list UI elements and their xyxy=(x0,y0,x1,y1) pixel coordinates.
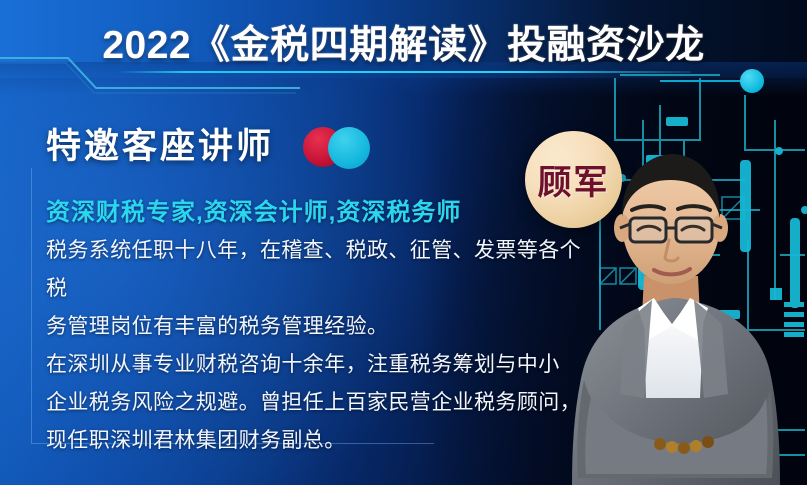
logo-dots xyxy=(303,125,373,169)
bio-line: 税务系统任职十八年，在稽查、税政、征管、发票等各个税 xyxy=(46,232,586,308)
speaker-credentials: 资深财税专家,资深会计师,资深税务师 xyxy=(46,192,461,227)
bio-line: 在深圳从事专业财税咨询十余年，注重税务筹划与中小 xyxy=(46,346,586,384)
bio-line: 现任职深圳君林集团财务副总。 xyxy=(46,422,586,460)
accent-dot-lead-line xyxy=(660,80,744,82)
speaker-biography: 税务系统任职十八年，在稽查、税政、征管、发票等各个税 务管理岗位有丰富的税务管理… xyxy=(46,232,586,460)
accent-dot-icon xyxy=(740,69,764,93)
title-underline xyxy=(116,71,691,73)
circle-cyan-icon xyxy=(328,127,370,169)
speaker-portrait-icon xyxy=(548,148,807,485)
bio-line: 企业税务风险之规避。曾担任上百家民营企业税务顾问， xyxy=(46,384,586,422)
bio-line: 务管理岗位有丰富的税务管理经验。 xyxy=(46,308,586,346)
poster-canvas: 2022《金税四期解读》投融资沙龙 特邀客座讲师 资深财税专家,资深会计师,资深… xyxy=(0,0,807,485)
page-title: 2022《金税四期解读》投融资沙龙 xyxy=(0,14,807,70)
section-headline: 特邀客座讲师 xyxy=(46,118,274,169)
